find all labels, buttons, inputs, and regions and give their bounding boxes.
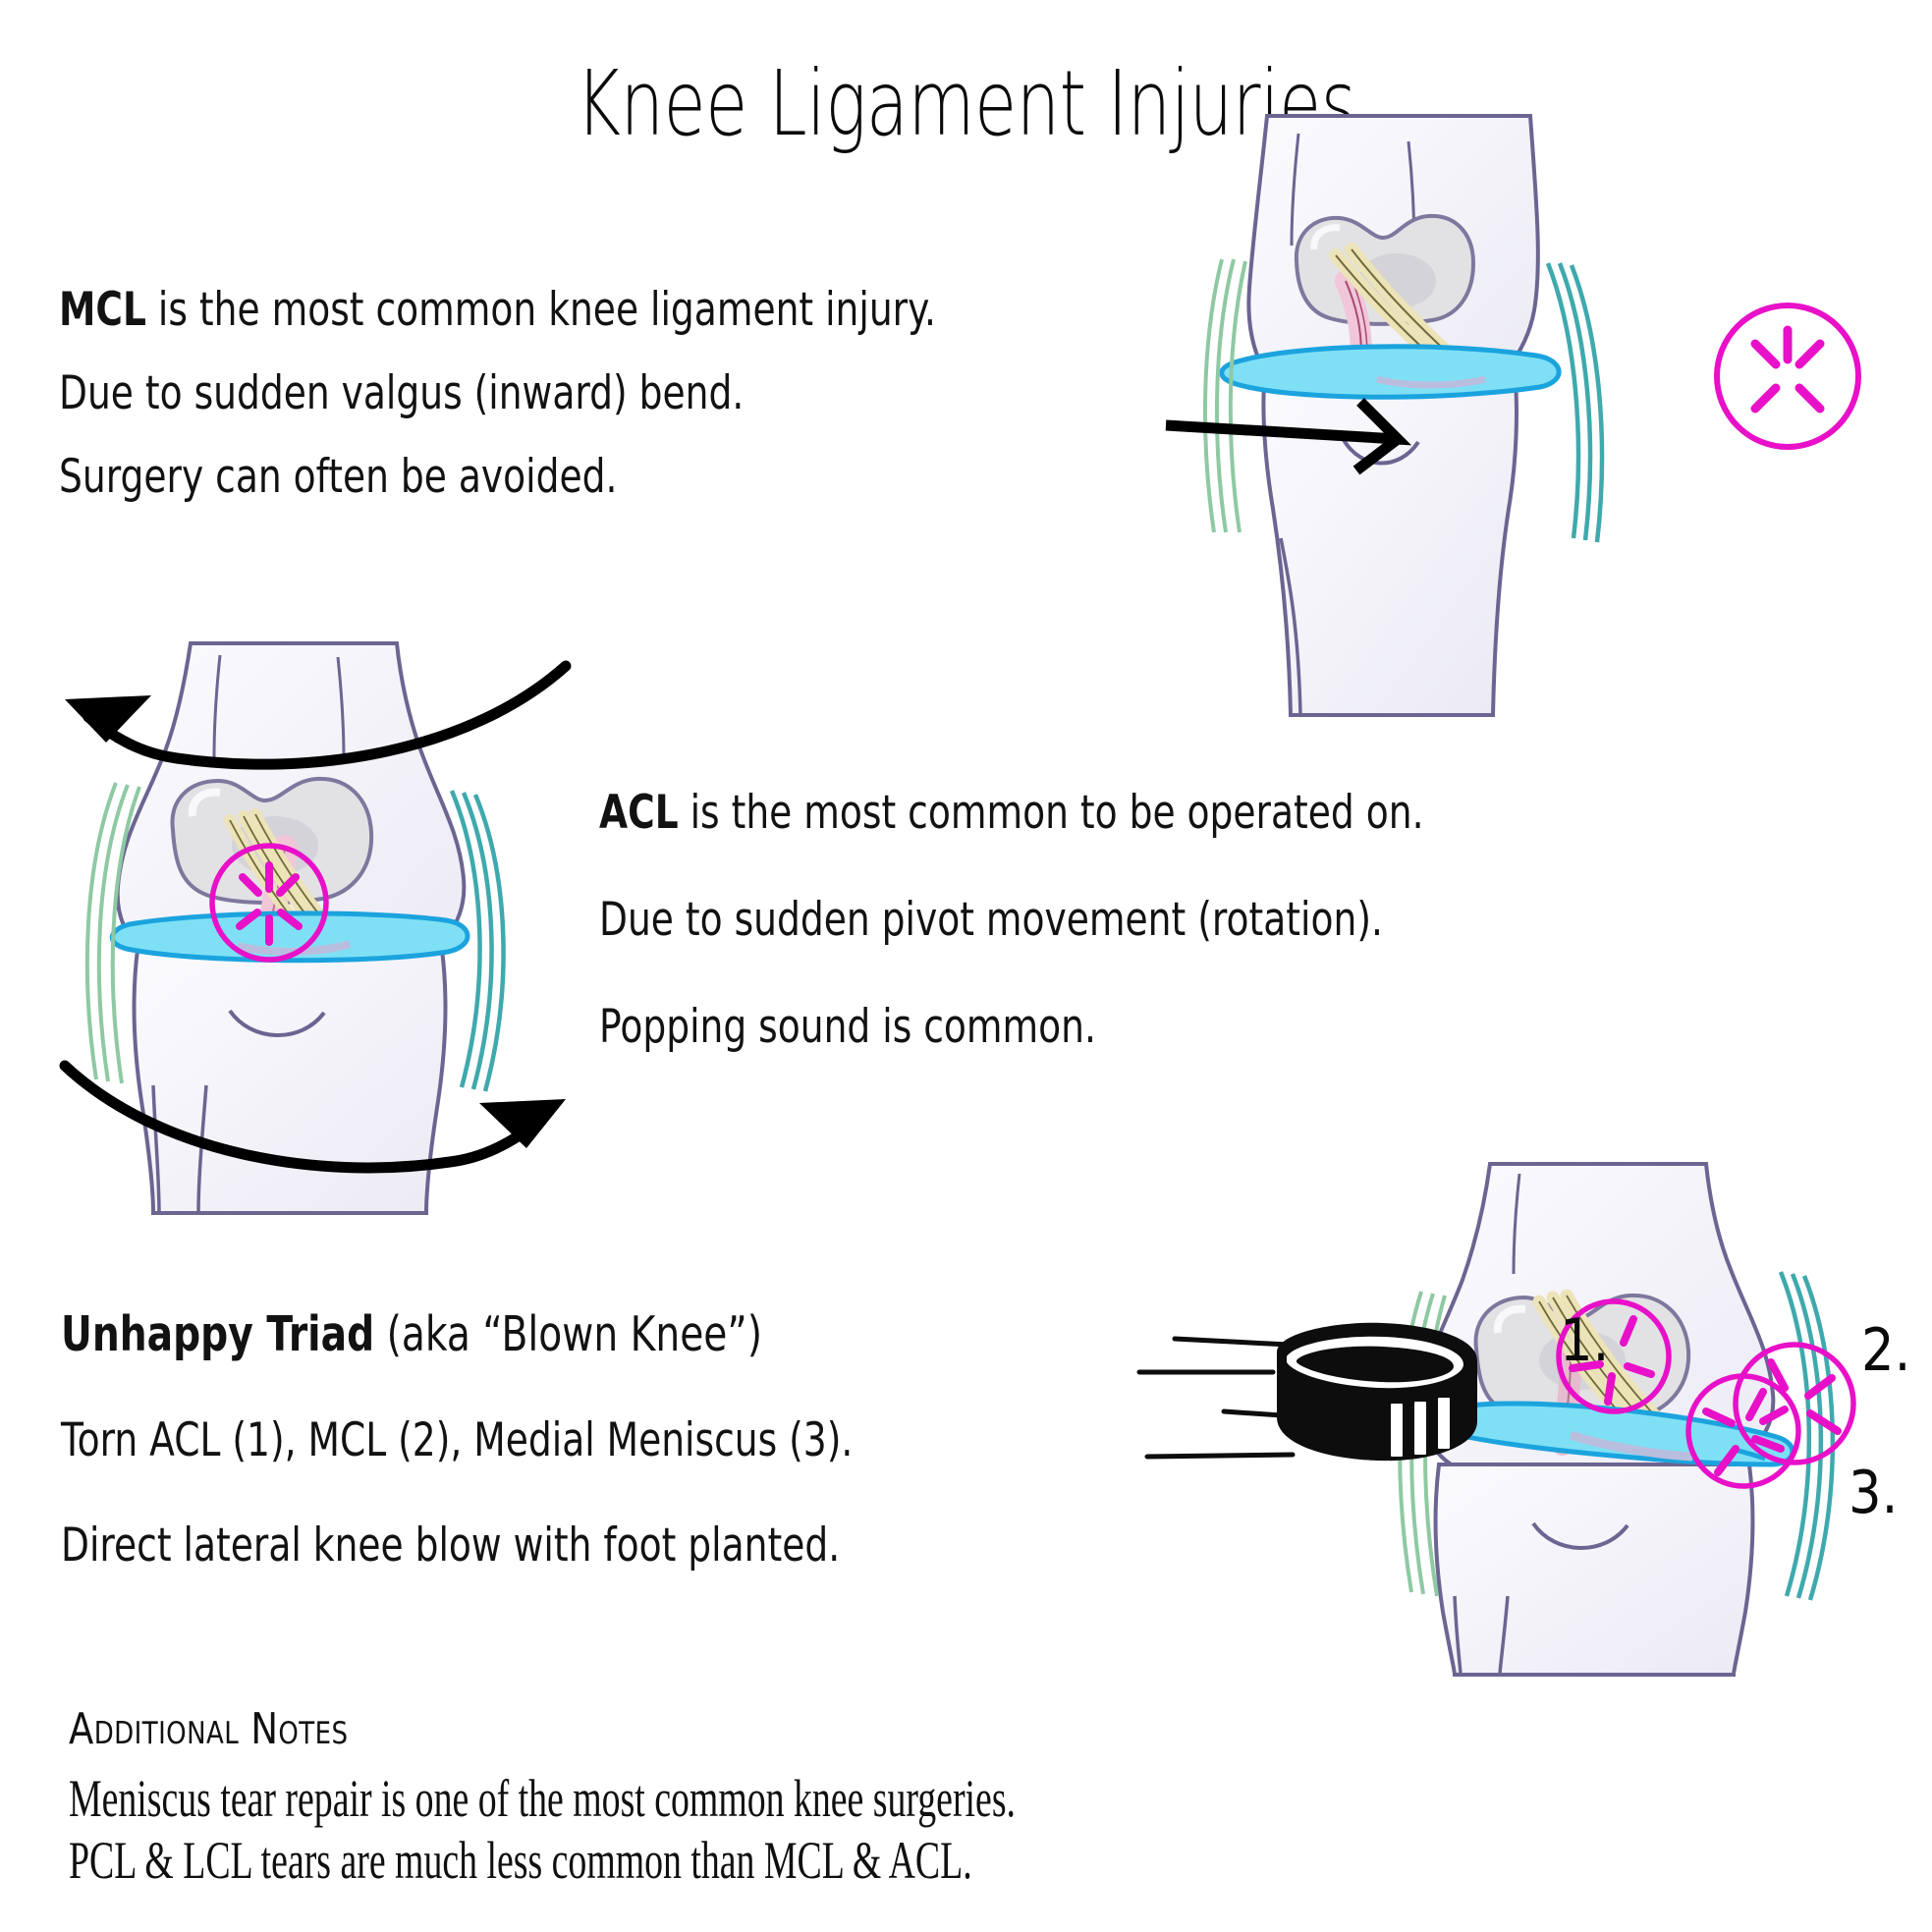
unhappy-triad-text-block: Unhappy Triad (aka “Blown Knee”) Torn AC… [61, 1306, 853, 1624]
callout-number-3: 3. [1849, 1459, 1898, 1527]
triad-label: Unhappy Triad [61, 1306, 374, 1362]
acl-line-3: Popping sound is common. [599, 1000, 1424, 1054]
mcl-line-3: Surgery can often be avoided. [59, 450, 936, 504]
acl-line-1: ACL is the most common to be operated on… [599, 786, 1424, 840]
triad-line-3: Direct lateral knee blow with foot plant… [61, 1518, 853, 1573]
mcl-label: MCL [59, 283, 146, 337]
arrow-valgus-upper [49, 648, 570, 786]
acl-text-block: ACL is the most common to be operated on… [599, 786, 1424, 1107]
mcl-text-block: MCL is the most common knee ligament inj… [59, 283, 936, 533]
mcl-line-2: Due to sudden valgus (inward) bend. [59, 366, 936, 420]
lcl-ligament-teal [1781, 1272, 1833, 1600]
triad-line-1: Unhappy Triad (aka “Blown Knee”) [61, 1306, 853, 1362]
triad-line-1-text: (aka “Blown Knee”) [374, 1306, 762, 1362]
triad-line-2: Torn ACL (1), MCL (2), Medial Meniscus (… [61, 1413, 853, 1467]
injury-marker-mcl [1717, 305, 1858, 447]
note-line-1: Meniscus tear repair is one of the most … [69, 1768, 1016, 1830]
lcl-ligament-teal [1548, 263, 1602, 542]
note-line-2: PCL & LCL tears are much less common tha… [69, 1830, 1016, 1892]
mcl-line-1: MCL is the most common knee ligament inj… [59, 283, 936, 337]
callout-number-2: 2. [1861, 1316, 1910, 1385]
arrow-pointing-to-mcl [1164, 388, 1429, 496]
puck-ridges [1391, 1398, 1450, 1457]
acl-line-2: Due to sudden pivot movement (rotation). [599, 893, 1424, 947]
arrow-valgus-lower [59, 1056, 580, 1193]
infographic-page: Knee Ligament Injuries MCL is the most c… [0, 0, 1932, 1932]
additional-notes-heading: Additional Notes [69, 1704, 1205, 1754]
callout-number-1: 1. [1560, 1306, 1609, 1375]
acl-line-1-text: is the most common to be operated on. [679, 786, 1424, 840]
mcl-line-1-text: is the most common knee ligament injury. [146, 283, 936, 337]
puck-body [1277, 1323, 1477, 1461]
hockey-puck-icon [1139, 1301, 1493, 1513]
additional-notes-block: Additional Notes Meniscus tear repair is… [69, 1704, 1421, 1891]
acl-label: ACL [599, 786, 679, 840]
